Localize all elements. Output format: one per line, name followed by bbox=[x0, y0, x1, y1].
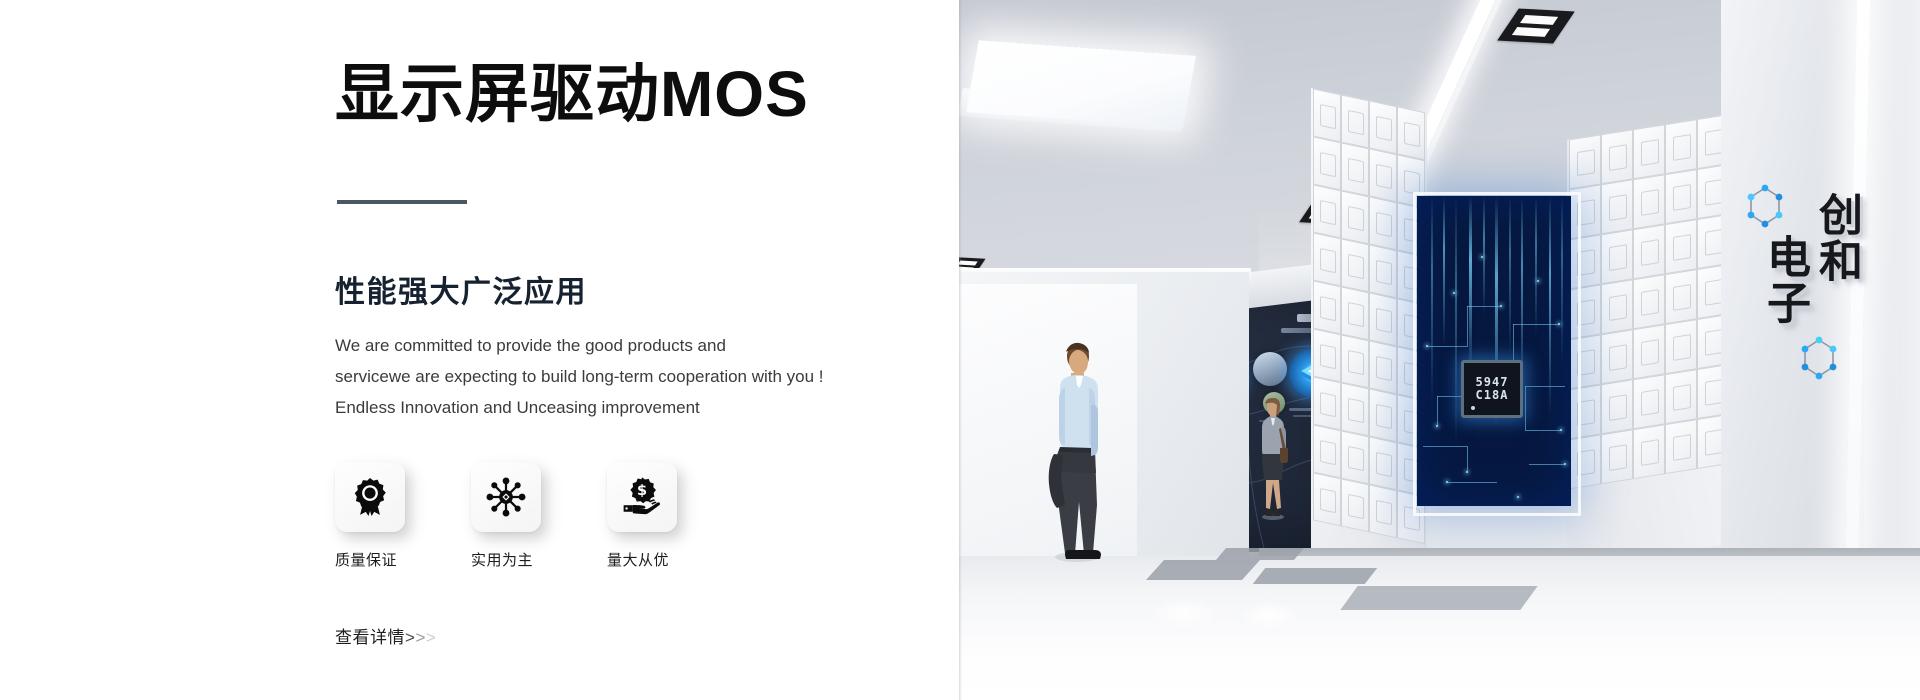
led-display-wall: 5947 C18A bbox=[1417, 196, 1571, 506]
floor-light-reflection bbox=[1149, 596, 1219, 630]
showroom-interior-photo: 5947 C18A 创和 电子 bbox=[959, 0, 1920, 700]
hero-banner: 显示屏驱动MOS 性能强大广泛应用 We are committed to pr… bbox=[0, 0, 1920, 700]
hexagon-molecule-icon bbox=[1797, 334, 1841, 394]
floor-inset-strip bbox=[1340, 586, 1537, 610]
svg-text:$: $ bbox=[637, 483, 647, 499]
feature-tile: $ bbox=[607, 462, 677, 532]
subheading: 性能强大广泛应用 bbox=[335, 267, 587, 311]
floor-light-reflection bbox=[1079, 660, 1159, 688]
signage-column-right: 创和 bbox=[1813, 192, 1859, 284]
feature-tile bbox=[335, 462, 405, 532]
panel-divider bbox=[959, 0, 962, 700]
hexagon-molecule-icon bbox=[1743, 182, 1787, 242]
body-line-1: We are committed to provide the good pro… bbox=[335, 330, 895, 361]
network-hub-icon bbox=[485, 476, 527, 518]
chevron-1: > bbox=[405, 628, 415, 647]
feature-item-volume-discount[interactable]: $ 量大从优 bbox=[607, 462, 685, 570]
display-background bbox=[1417, 196, 1571, 506]
page-title: 显示屏驱动MOS bbox=[335, 58, 809, 132]
chip-pin1-dot bbox=[1471, 406, 1475, 410]
signage-column-left: 电子 bbox=[1761, 234, 1807, 326]
feature-tile bbox=[471, 462, 541, 532]
person-standing-man bbox=[1045, 342, 1105, 564]
chip-graphic: 5947 C18A bbox=[1461, 360, 1523, 418]
body-line-2: servicewe are expecting to build long-te… bbox=[335, 361, 895, 392]
floor-light-reflection bbox=[1239, 600, 1299, 630]
chevron-3: > bbox=[426, 628, 436, 647]
body-line-3: Endless Innovation and Unceasing improve… bbox=[335, 392, 895, 423]
floor-inset-strip bbox=[1146, 560, 1260, 580]
feature-label: 量大从优 bbox=[607, 549, 669, 570]
chip-label-line-2: C18A bbox=[1476, 389, 1509, 402]
person-walking-woman bbox=[1256, 398, 1290, 520]
feature-list: 质量保证 bbox=[335, 462, 685, 570]
body-paragraph: We are committed to provide the good pro… bbox=[335, 330, 895, 423]
left-text-panel: 显示屏驱动MOS 性能强大广泛应用 We are committed to pr… bbox=[0, 0, 959, 700]
chevron-2: > bbox=[415, 628, 425, 647]
award-ribbon-icon bbox=[349, 476, 391, 518]
feature-item-practical[interactable]: 实用为主 bbox=[471, 462, 549, 570]
embossed-panel-wall-left bbox=[1311, 88, 1427, 593]
feature-item-quality[interactable]: 质量保证 bbox=[335, 462, 413, 570]
view-details-link[interactable]: 查看详情>>> bbox=[335, 623, 436, 648]
cta-label: 查看详情 bbox=[335, 628, 405, 647]
company-name-signage: 创和 电子 bbox=[1749, 196, 1859, 396]
feature-label: 质量保证 bbox=[335, 549, 397, 570]
skylight-panel-light bbox=[966, 40, 1196, 127]
floor-inset-strip bbox=[1253, 568, 1378, 584]
medallion-photo bbox=[1253, 352, 1287, 386]
hand-money-icon: $ bbox=[621, 476, 663, 518]
floor-inset-strip bbox=[1216, 548, 1304, 560]
title-divider bbox=[337, 200, 467, 204]
feature-label: 实用为主 bbox=[471, 549, 533, 570]
